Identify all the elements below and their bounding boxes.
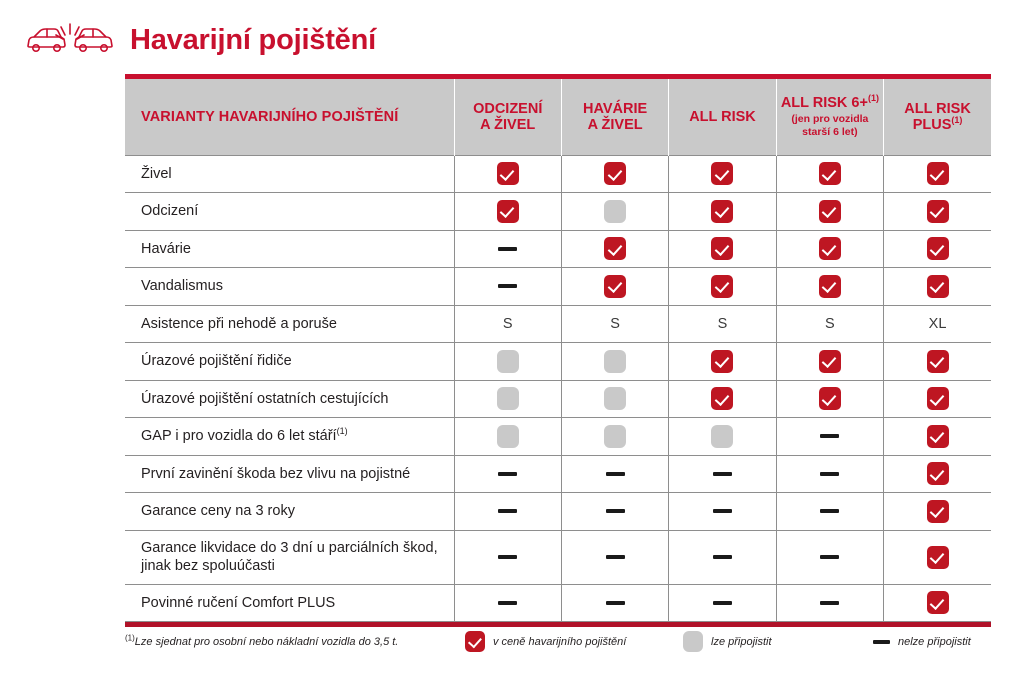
table-row: Živel <box>125 155 991 193</box>
cell-unavailable <box>454 268 561 306</box>
cell-unavailable <box>561 493 668 531</box>
check-icon <box>927 237 949 260</box>
check-icon <box>927 350 949 373</box>
cell-included <box>776 268 883 306</box>
legend-item-included: v ceně havarijního pojištění <box>465 631 683 652</box>
row-label: Povinné ručení Comfort PLUS <box>125 584 454 622</box>
cell-included <box>776 193 883 231</box>
row-label: První zavinění škoda bez vlivu na pojist… <box>125 455 454 493</box>
grey-square-icon <box>497 350 519 373</box>
row-label: Havárie <box>125 230 454 268</box>
row-label-text: Asistence při nehodě a poruše <box>141 316 337 332</box>
cell-optional <box>561 418 668 456</box>
dash-icon <box>820 472 839 476</box>
row-label-text: Živel <box>141 166 172 182</box>
row-label: Asistence při nehodě a poruše <box>125 305 454 343</box>
cell-included <box>669 155 776 193</box>
cell-included <box>884 193 991 231</box>
check-icon <box>711 275 733 298</box>
dash-icon <box>713 509 732 513</box>
page-header: Havarijní pojištění <box>0 0 1024 62</box>
check-icon <box>819 350 841 373</box>
row-label: Úrazové pojištění ostatních cestujících <box>125 380 454 418</box>
table-row: Havárie <box>125 230 991 268</box>
table-row: Úrazové pojištění řidiče <box>125 343 991 381</box>
cell-unavailable <box>776 418 883 456</box>
cell-included <box>884 455 991 493</box>
dash-icon <box>606 509 625 513</box>
table-row: Garance likvidace do 3 dní u parciálních… <box>125 530 991 584</box>
column-header-odcizeni-a-zivel: ODCIZENÍ A ŽIVEL <box>454 79 561 155</box>
check-icon <box>927 500 949 523</box>
check-icon <box>711 200 733 223</box>
cell-included <box>669 193 776 231</box>
cell-included <box>776 155 883 193</box>
cell-included <box>884 493 991 531</box>
col-title-line1: HAVÁRIE <box>583 101 647 117</box>
cell-unavailable <box>669 530 776 584</box>
row-label: GAP i pro vozidla do 6 let stáří(1) <box>125 418 454 456</box>
table-row: Úrazové pojištění ostatních cestujících <box>125 380 991 418</box>
col-subtitle: (jen pro vozidla starší 6 let) <box>780 113 880 138</box>
cell-included <box>454 155 561 193</box>
cell-unavailable <box>669 455 776 493</box>
cell-included <box>776 230 883 268</box>
grey-square-icon <box>683 631 703 652</box>
dash-icon <box>498 472 517 476</box>
cell-included <box>884 418 991 456</box>
check-icon <box>927 462 949 485</box>
check-icon <box>927 162 949 185</box>
grey-square-icon <box>604 200 626 223</box>
cell-optional <box>561 380 668 418</box>
column-header-all-risk-plus: ALL RISK PLUS(1) <box>884 79 991 155</box>
legend-footnote: (1)Lze sjednat pro osobní nebo nákladní … <box>125 636 465 648</box>
check-icon <box>711 387 733 410</box>
cell-value: XL <box>884 305 991 343</box>
cell-optional <box>454 418 561 456</box>
col-footnote-marker: (1) <box>868 93 879 103</box>
col-title-line2: A ŽIVEL <box>480 117 535 133</box>
cell-unavailable <box>561 455 668 493</box>
grey-square-icon <box>711 425 733 448</box>
table-row: GAP i pro vozidla do 6 let stáří(1) <box>125 418 991 456</box>
row-label-text: Garance ceny na 3 roky <box>141 503 295 519</box>
dash-icon <box>498 247 517 251</box>
cell-unavailable <box>454 493 561 531</box>
check-icon <box>711 350 733 373</box>
cell-included <box>884 155 991 193</box>
col-title-line1: ALL RISK 6+ <box>781 95 868 111</box>
row-label-text: Úrazové pojištění řidiče <box>141 353 292 369</box>
cell-included <box>561 230 668 268</box>
cell-value: S <box>776 305 883 343</box>
row-label: Odcizení <box>125 193 454 231</box>
table-bottom-rule <box>125 622 991 627</box>
cell-included <box>561 155 668 193</box>
check-icon <box>497 162 519 185</box>
cell-unavailable <box>776 493 883 531</box>
check-icon <box>927 546 949 569</box>
check-icon <box>497 200 519 223</box>
cell-included <box>669 230 776 268</box>
cell-unavailable <box>669 584 776 622</box>
cell-unavailable <box>454 530 561 584</box>
cell-value: S <box>669 305 776 343</box>
cell-value-text: S <box>610 316 620 332</box>
cell-unavailable <box>669 493 776 531</box>
table-header: VARIANTY HAVARIJNÍHO POJIŠTĚNÍ ODCIZENÍ … <box>125 79 991 155</box>
col-footnote-marker: (1) <box>951 115 962 125</box>
cell-unavailable <box>561 530 668 584</box>
cell-included <box>669 380 776 418</box>
column-header-all-risk-6-plus: ALL RISK 6+(1) (jen pro vozidla starší 6… <box>776 79 883 155</box>
table-row: Povinné ručení Comfort PLUS <box>125 584 991 622</box>
row-label: Vandalismus <box>125 268 454 306</box>
cell-value: S <box>454 305 561 343</box>
table-row: Garance ceny na 3 roky <box>125 493 991 531</box>
cell-unavailable <box>454 584 561 622</box>
cell-optional <box>454 380 561 418</box>
col-title-line2: PLUS <box>913 117 952 133</box>
check-icon <box>604 162 626 185</box>
column-header-all-risk: ALL RISK <box>669 79 776 155</box>
check-icon <box>819 275 841 298</box>
dash-icon <box>820 434 839 438</box>
check-icon <box>465 631 485 652</box>
dash-icon <box>713 472 732 476</box>
dash-icon <box>498 601 517 605</box>
col-title-line1: ODCIZENÍ <box>473 101 542 117</box>
table-row: Asistence při nehodě a porušeSSSSXL <box>125 305 991 343</box>
check-icon <box>604 237 626 260</box>
dash-icon <box>713 555 732 559</box>
legend-label: nelze připojistit <box>898 636 971 648</box>
cell-included <box>884 268 991 306</box>
cell-unavailable <box>776 584 883 622</box>
row-label-text: GAP i pro vozidla do 6 let stáří <box>141 428 337 444</box>
check-icon <box>604 275 626 298</box>
column-header-havarie-a-zivel: HAVÁRIE A ŽIVEL <box>561 79 668 155</box>
check-icon <box>819 387 841 410</box>
grey-square-icon <box>604 425 626 448</box>
cell-value-text: S <box>503 316 513 332</box>
row-label-text: Úrazové pojištění ostatních cestujících <box>141 391 388 407</box>
table-row: Odcizení <box>125 193 991 231</box>
cell-value-text: XL <box>929 316 947 332</box>
check-icon <box>927 425 949 448</box>
cell-optional <box>454 343 561 381</box>
cell-optional <box>561 343 668 381</box>
row-label: Garance likvidace do 3 dní u parciálních… <box>125 530 454 584</box>
check-icon <box>927 387 949 410</box>
row-footnote-marker: (1) <box>337 426 348 436</box>
cell-included <box>669 343 776 381</box>
cell-unavailable <box>454 455 561 493</box>
table-row: Vandalismus <box>125 268 991 306</box>
cell-included <box>561 268 668 306</box>
cell-included <box>884 530 991 584</box>
row-label-text: Odcizení <box>141 203 198 219</box>
row-label-text: První zavinění škoda bez vlivu na pojist… <box>141 466 410 482</box>
row-label-text: Havárie <box>141 241 191 257</box>
cell-value-text: S <box>718 316 728 332</box>
check-icon <box>927 275 949 298</box>
cell-included <box>454 193 561 231</box>
dash-icon <box>498 555 517 559</box>
cell-optional <box>669 418 776 456</box>
table-row: První zavinění škoda bez vlivu na pojist… <box>125 455 991 493</box>
row-label: Úrazové pojištění řidiče <box>125 343 454 381</box>
legend-label: lze připojistit <box>711 636 772 648</box>
legend: (1)Lze sjednat pro osobní nebo nákladní … <box>125 631 991 652</box>
dash-icon <box>713 601 732 605</box>
cell-unavailable <box>776 530 883 584</box>
grey-square-icon <box>604 387 626 410</box>
footnote-text: Lze sjednat pro osobní nebo nákladní voz… <box>135 636 399 648</box>
check-icon <box>711 162 733 185</box>
dash-icon <box>820 509 839 513</box>
dash-icon <box>606 472 625 476</box>
cell-optional <box>561 193 668 231</box>
cell-value: S <box>561 305 668 343</box>
page-title: Havarijní pojištění <box>130 26 376 55</box>
cell-value-text: S <box>825 316 835 332</box>
grey-square-icon <box>497 387 519 410</box>
check-icon <box>927 591 949 614</box>
cell-unavailable <box>776 455 883 493</box>
cell-included <box>884 584 991 622</box>
check-icon <box>819 237 841 260</box>
row-label: Garance ceny na 3 roky <box>125 493 454 531</box>
cell-unavailable <box>561 584 668 622</box>
check-icon <box>927 200 949 223</box>
check-icon <box>819 162 841 185</box>
dash-icon <box>606 555 625 559</box>
dash-icon <box>606 601 625 605</box>
cell-included <box>669 268 776 306</box>
dash-icon <box>820 601 839 605</box>
grey-square-icon <box>604 350 626 373</box>
car-crash-icon <box>24 18 116 62</box>
check-icon <box>819 200 841 223</box>
col-title-line2: A ŽIVEL <box>588 117 643 133</box>
row-label-text: Povinné ručení Comfort PLUS <box>141 595 335 611</box>
dash-icon <box>873 640 890 644</box>
dash-icon <box>820 555 839 559</box>
row-label-text: Garance likvidace do 3 dní u parciálních… <box>141 540 438 574</box>
legend-label: v ceně havarijního pojištění <box>493 636 626 648</box>
comparison-table: VARIANTY HAVARIJNÍHO POJIŠTĚNÍ ODCIZENÍ … <box>125 74 991 627</box>
dash-icon <box>498 284 517 288</box>
row-label: Živel <box>125 155 454 193</box>
dash-icon <box>498 509 517 513</box>
cell-included <box>884 380 991 418</box>
header-row: VARIANTY HAVARIJNÍHO POJIŠTĚNÍ ODCIZENÍ … <box>125 79 991 155</box>
header-variants-label: VARIANTY HAVARIJNÍHO POJIŠTĚNÍ <box>125 79 454 155</box>
col-title-line1: ALL RISK <box>689 109 756 125</box>
cell-unavailable <box>454 230 561 268</box>
table-body: ŽivelOdcizeníHavárieVandalismusAsistence… <box>125 155 991 622</box>
grey-square-icon <box>497 425 519 448</box>
cell-included <box>776 343 883 381</box>
row-label-text: Vandalismus <box>141 278 223 294</box>
check-icon <box>711 237 733 260</box>
legend-item-unavailable: nelze připojistit <box>873 636 971 648</box>
cell-included <box>884 230 991 268</box>
cell-included <box>884 343 991 381</box>
cell-included <box>776 380 883 418</box>
footnote-marker: (1) <box>125 633 135 642</box>
legend-item-optional: lze připojistit <box>683 631 873 652</box>
